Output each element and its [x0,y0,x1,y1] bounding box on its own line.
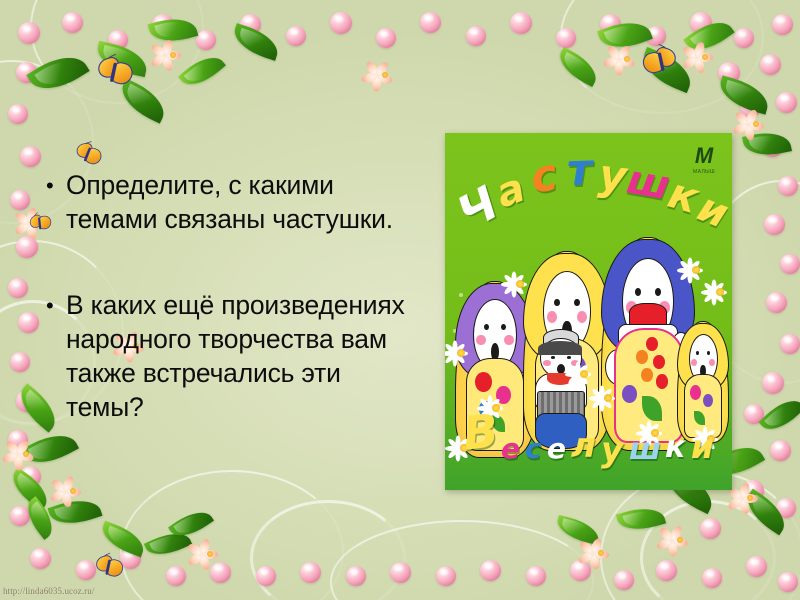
flower [612,44,642,74]
flower [664,524,696,556]
subtitle-letter: у [601,433,623,467]
subtitle-letter: ш [629,435,661,465]
bullet-text-1: Определите, с какими темами связаны част… [66,168,406,236]
slide-canvas: • Определите, с какими темами связаны ча… [0,0,800,600]
bullet-marker: • [46,288,66,324]
bullet-item-2: • В каких ещё произведениях народного тв… [46,288,406,424]
flower [734,482,766,514]
subtitle-letter: л [571,429,596,463]
flower [368,58,402,92]
flower [58,476,88,506]
title-letter: с [527,153,560,201]
flower [740,108,772,140]
title-letter: у [597,154,629,199]
book-cover-image: Ч а с т у ш к и [445,133,732,490]
flower [688,40,722,74]
flower [586,538,616,568]
publisher-name: МАЛЫШ [684,169,724,175]
bullet-item-1: • Определите, с какими темами связаны ча… [46,168,406,236]
flower [10,438,42,470]
cover-subtitle: В е с е л у ш к и [463,405,725,481]
publisher-logo: М МАЛЫШ [684,145,724,175]
publisher-mark: М [684,145,724,167]
title-letter: ш [624,160,673,207]
daisy-icon [505,269,535,299]
source-watermark: http://linda6035.ucoz.ru/ [3,586,95,596]
subtitle-letter: е [547,435,566,463]
daisy-icon [447,339,475,367]
subtitle-letter: е [501,435,520,463]
title-letter: т [566,149,593,194]
daisy-icon [707,279,732,305]
bullet-text-2: В каких ещё произведениях народного твор… [66,288,406,424]
subtitle-letter: с [525,435,542,463]
slide-body-text: • Определите, с какими темами связаны ча… [46,168,406,446]
subtitle-letter: и [691,431,713,463]
flower [196,540,224,568]
flower [156,38,190,72]
subtitle-letter: к [665,433,685,463]
bullet-marker: • [46,168,66,204]
subtitle-letter: В [461,407,501,456]
